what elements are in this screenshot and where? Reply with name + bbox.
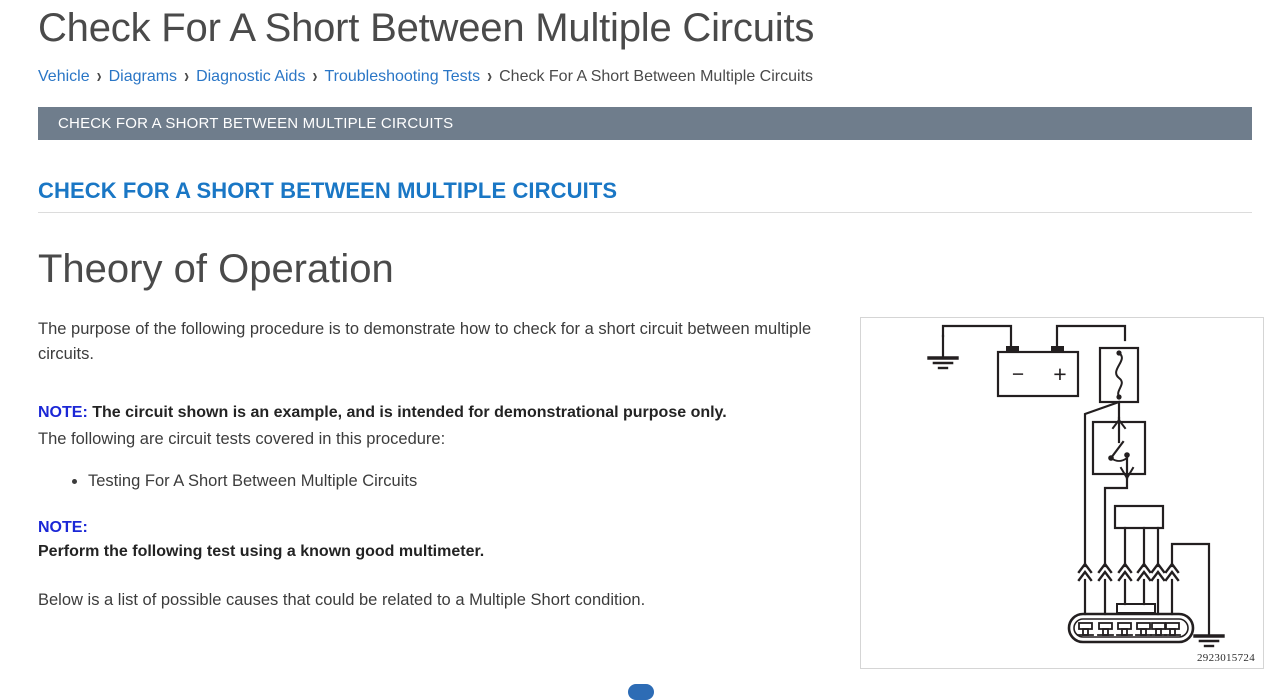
document-page: Check For A Short Between Multiple Circu… [0,0,1282,691]
intro-paragraph: The purpose of the following procedure i… [38,317,828,367]
ground-symbol-right [1195,636,1223,646]
connector-bridge [1117,604,1155,613]
section-heading-wrap: CHECK FOR A SHORT BETWEEN MULTIPLE CIRCU… [38,178,1252,213]
breadcrumb-item-diagnostic-aids[interactable]: Diagnostic Aids [196,67,305,87]
zoom-figure-button[interactable] [628,684,654,700]
breadcrumb-item-vehicle[interactable]: Vehicle [38,67,90,87]
battery-positive-label: + [1053,361,1066,387]
section-bar: CHECK FOR A SHORT BETWEEN MULTIPLE CIRCU… [38,107,1252,140]
breadcrumb: Vehicle › Diagrams › Diagnostic Aids › T… [38,67,1252,87]
breadcrumb-separator-icon: › [97,63,102,90]
breadcrumb-separator-icon: › [312,63,317,90]
note-text: Perform the following test using a known… [38,540,828,564]
breadcrumb-separator-icon: › [184,63,189,90]
content-area: The purpose of the following procedure i… [38,317,1252,669]
text-column: The purpose of the following procedure i… [38,317,828,613]
breadcrumb-separator-icon: › [487,63,492,90]
ground-symbol-left [929,336,957,368]
breadcrumb-item-diagrams[interactable]: Diagrams [109,67,177,87]
note-label: NOTE: [38,516,828,540]
connector-terminals [1078,623,1180,635]
list-item: Testing For A Short Between Multiple Cir… [88,468,828,494]
wire-battery-positive-to-fuse [1057,326,1125,346]
figure-caption: 2923015724 [1197,652,1255,664]
junction-block [1115,506,1163,528]
breadcrumb-item-current: Check For A Short Between Multiple Circu… [499,67,813,87]
section-heading: CHECK FOR A SHORT BETWEEN MULTIPLE CIRCU… [38,178,1252,204]
figure-column: − + 2923015724 [860,317,1264,669]
theory-of-operation-heading: Theory of Operation [38,247,1252,291]
connector-pin-arrows [1079,564,1178,580]
battery-negative-label: − [1012,363,1024,386]
tests-lead-paragraph: The following are circuit tests covered … [38,427,828,452]
causes-lead-paragraph: Below is a list of possible causes that … [38,588,828,613]
note-text: The circuit shown is an example, and is … [92,404,726,421]
note-block-2: NOTE: Perform the following test using a… [38,516,828,564]
section-bar-label: CHECK FOR A SHORT BETWEEN MULTIPLE CIRCU… [58,115,453,132]
note-block-1: NOTE: The circuit shown is an example, a… [38,401,828,425]
connector-leads [1085,580,1172,614]
page-title: Check For A Short Between Multiple Circu… [38,0,1252,51]
switch-lever [1111,442,1123,458]
circuit-diagram-panel[interactable]: − + 2923015724 [860,317,1264,669]
circuit-diagram-svg: − + [861,318,1263,668]
note-label: NOTE: [38,404,88,421]
battery-terminal-negative [1006,346,1019,353]
wire-ground-to-battery-negative [943,326,1011,348]
breadcrumb-item-troubleshooting-tests[interactable]: Troubleshooting Tests [324,67,480,87]
fuse-element [1116,353,1122,397]
tests-list: Testing For A Short Between Multiple Cir… [38,468,828,494]
